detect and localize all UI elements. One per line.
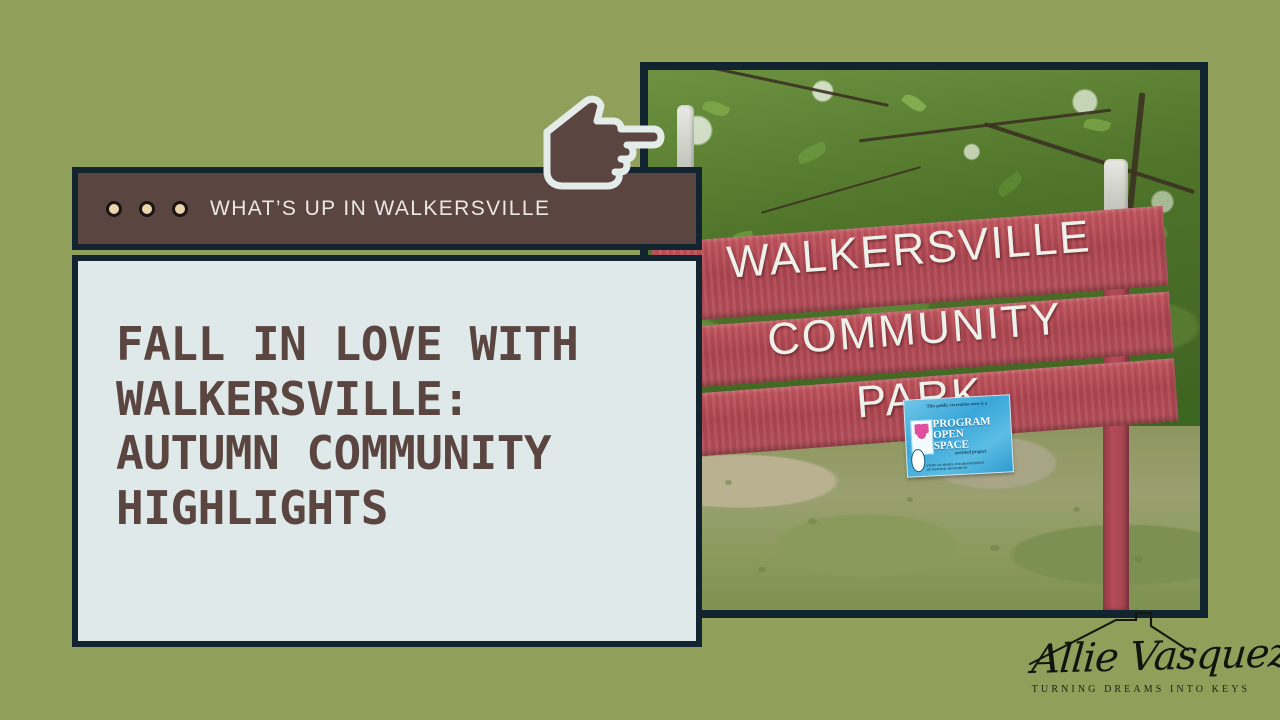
- slide-canvas: WALKERSVILLE COMMUNITY PARK This public …: [0, 0, 1280, 720]
- flyer-sub-text: assisted project: [955, 449, 986, 456]
- park-photo: WALKERSVILLE COMMUNITY PARK This public …: [648, 70, 1200, 610]
- brand-logo: Allie Vasquez TURNING DREAMS INTO KEYS: [1018, 612, 1268, 712]
- flyer-top-text: This public recreation area is a: [910, 399, 1002, 410]
- window-dot-icon[interactable]: [172, 201, 188, 217]
- flyer-fine-print: STATE OF MARYLAND DEPARTMENT OF NATURAL …: [926, 460, 987, 471]
- flyer-seal-icon: [910, 448, 925, 472]
- content-card: WHAT’S UP IN WALKERSVILLE FALL IN LOVE W…: [72, 167, 702, 647]
- brand-name: Allie Vasquez: [1030, 631, 1260, 683]
- card-title: WHAT’S UP IN WALKERSVILLE: [210, 197, 550, 221]
- flower-logo-icon: [914, 423, 928, 439]
- ground-speck: [1134, 556, 1143, 562]
- brand-tagline: TURNING DREAMS INTO KEYS: [1018, 684, 1264, 695]
- card-body: FALL IN LOVE WITH WALKERSVILLE: AUTUMN C…: [72, 255, 702, 647]
- page-title: FALL IN LOVE WITH WALKERSVILLE: AUTUMN C…: [116, 317, 666, 536]
- park-photo-frame: WALKERSVILLE COMMUNITY PARK This public …: [640, 62, 1208, 618]
- window-dots: [106, 201, 188, 217]
- pointing-hand-icon: [541, 88, 669, 190]
- window-dot-icon[interactable]: [106, 201, 122, 217]
- flyer-main-text: PROGRAM OPEN SPACE: [932, 415, 1009, 452]
- program-open-space-flyer: This public recreation area is a PROGRAM…: [903, 394, 1014, 477]
- window-dot-icon[interactable]: [139, 201, 155, 217]
